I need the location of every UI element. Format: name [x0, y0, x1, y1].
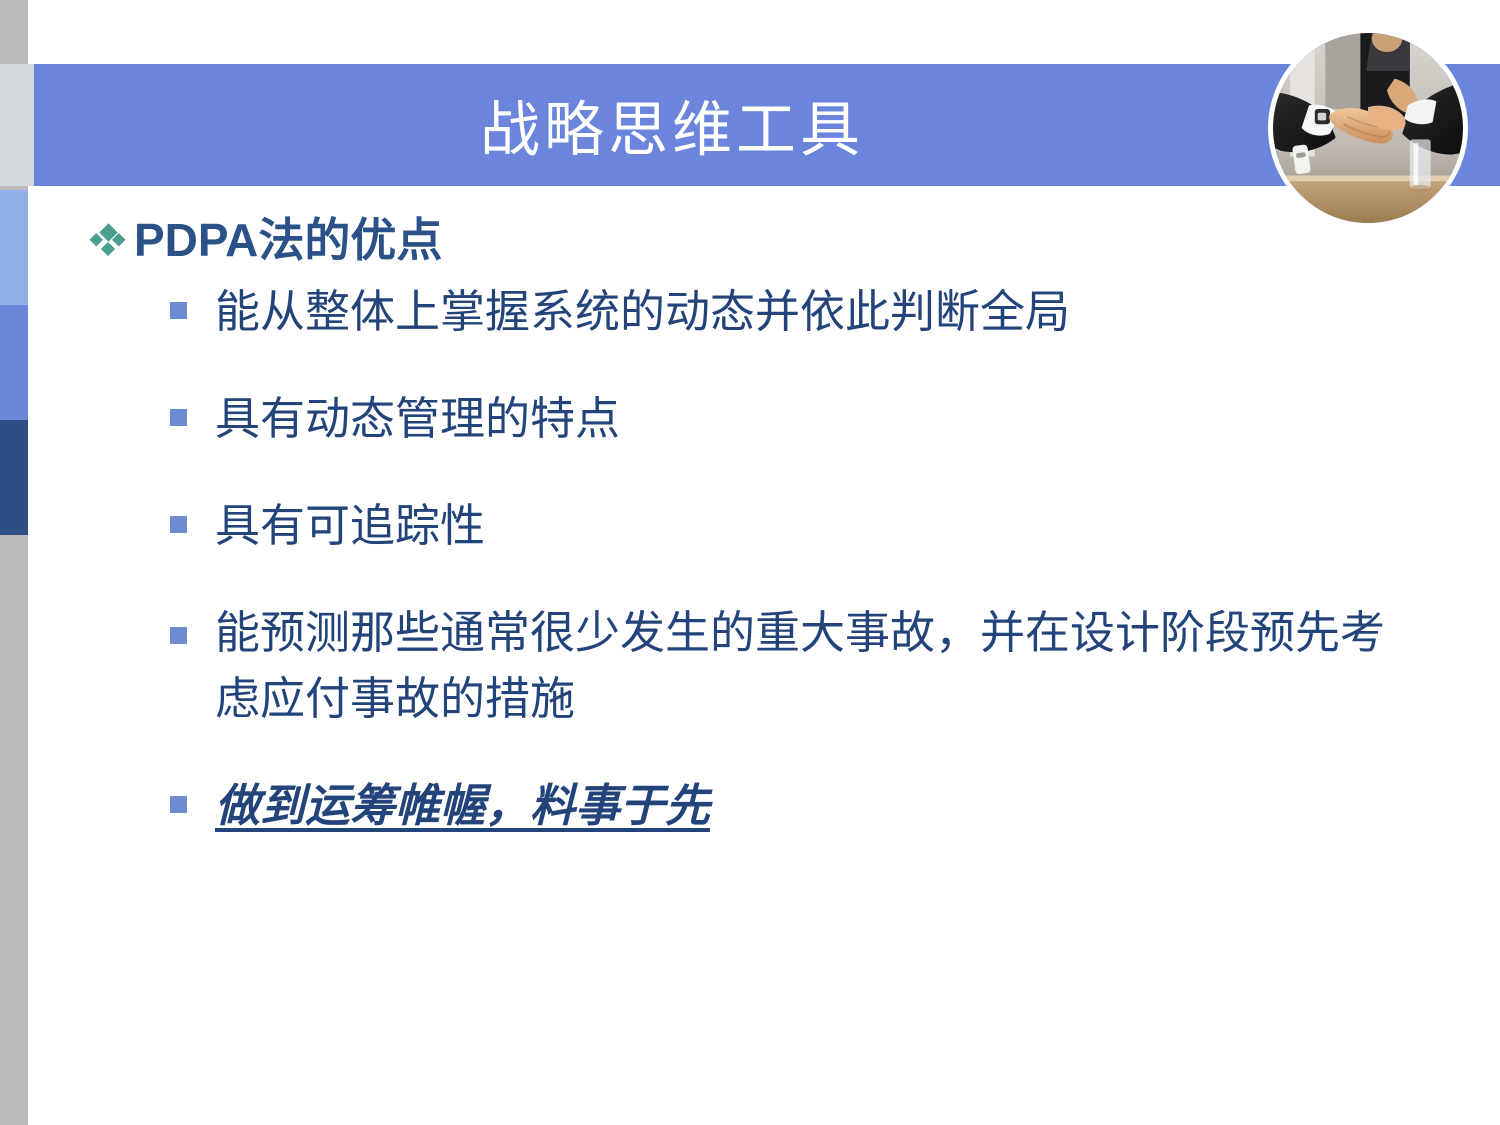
rail-header-pale-block: [0, 64, 28, 186]
list-item-text: 能预测那些通常很少发生的重大事故，并在设计阶段预先考虑应付事故的措施: [215, 601, 1400, 732]
handshake-photo-image: [1273, 33, 1463, 223]
square-bullet-icon: [170, 796, 187, 813]
list-item: 做到运筹帷幄，料事于先: [170, 774, 1460, 839]
slide-content: PDPA法的优点 能从整体上掌握系统的动态并依此判断全局 具有动态管理的特点 具…: [60, 215, 1460, 881]
square-bullet-icon: [170, 302, 187, 319]
section-heading: PDPA法的优点: [88, 215, 1460, 266]
section-heading-text: PDPA法的优点: [134, 215, 442, 266]
list-item-text: 能从整体上掌握系统的动态并依此判断全局: [215, 280, 1070, 345]
list-item: 具有动态管理的特点: [170, 387, 1460, 452]
rail-segment-light-blue: [0, 190, 28, 305]
rail-segment-navy: [0, 420, 28, 535]
diamond-bullet-icon: [88, 216, 128, 264]
square-bullet-icon: [170, 627, 187, 644]
handshake-photo: [1268, 28, 1468, 228]
rail-segment-medium-blue: [0, 305, 28, 420]
list-item: 具有可追踪性: [170, 494, 1460, 559]
rail-segment-gray-bottom: [0, 535, 28, 1125]
list-item-text: 具有可追踪性: [215, 494, 485, 559]
list-item: 能从整体上掌握系统的动态并依此判断全局: [170, 280, 1460, 345]
list-item: 能预测那些通常很少发生的重大事故，并在设计阶段预先考虑应付事故的措施: [170, 601, 1460, 732]
square-bullet-icon: [170, 409, 187, 426]
bullet-list: 能从整体上掌握系统的动态并依此判断全局 具有动态管理的特点 具有可追踪性 能预测…: [170, 280, 1460, 840]
square-bullet-icon: [170, 516, 187, 533]
list-item-text-emphasis: 做到运筹帷幄，料事于先: [215, 774, 710, 839]
list-item-text: 具有动态管理的特点: [215, 387, 620, 452]
